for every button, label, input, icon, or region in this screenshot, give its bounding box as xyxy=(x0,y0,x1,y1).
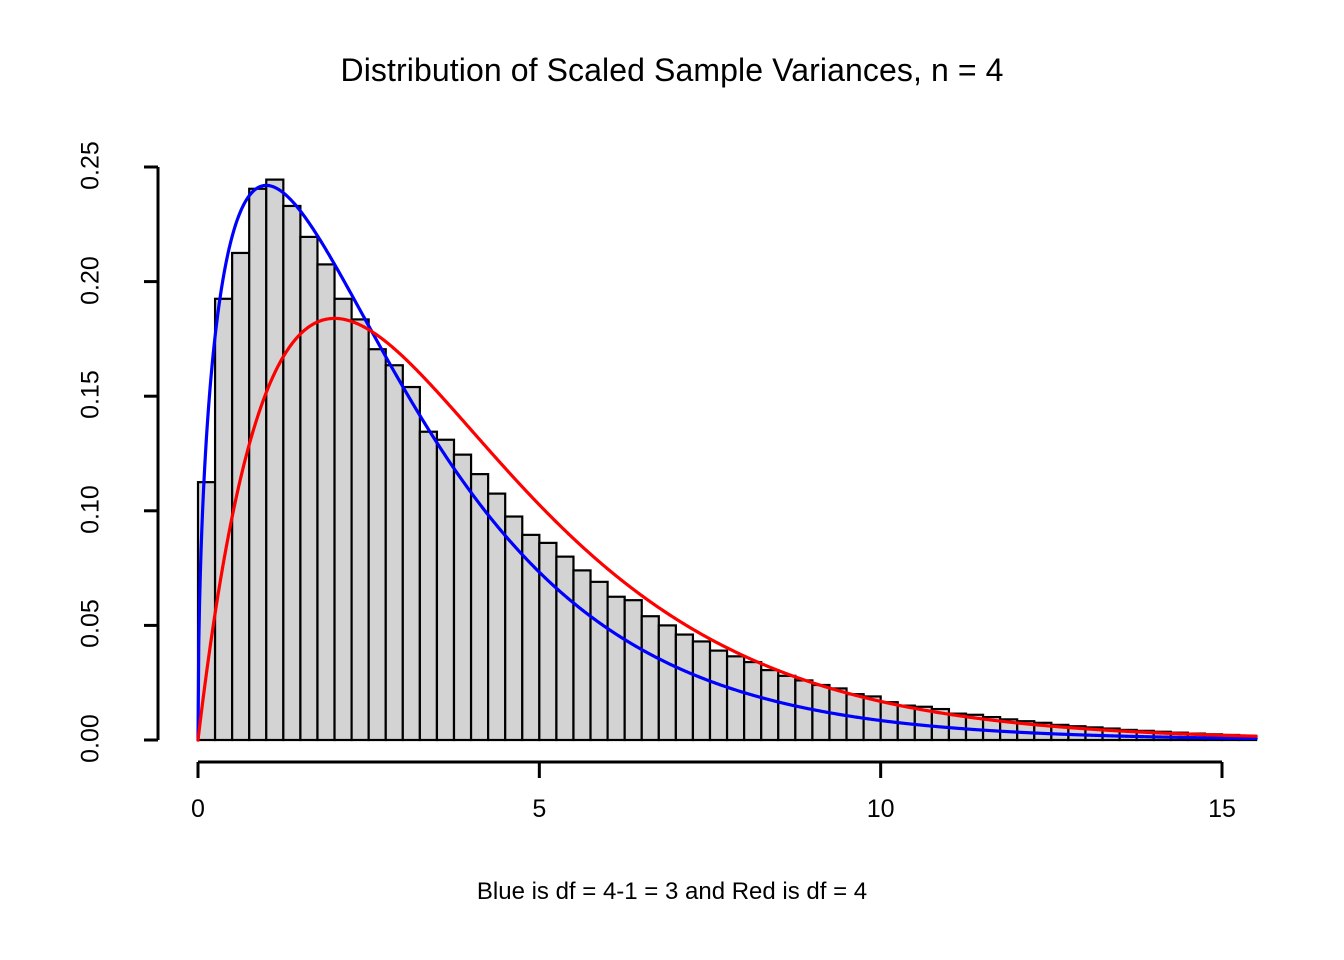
histogram-bar xyxy=(437,440,454,740)
histogram-bar xyxy=(249,189,266,740)
histogram-bar xyxy=(420,432,437,740)
histogram-bar xyxy=(642,616,659,740)
histogram-bar xyxy=(625,600,642,740)
histogram-bar xyxy=(676,635,693,740)
histogram-bar xyxy=(556,557,573,740)
histogram-bars xyxy=(198,180,1256,740)
histogram-bar xyxy=(761,670,778,740)
y-tick-label: 0.15 xyxy=(77,350,106,440)
x-tick-label: 0 xyxy=(191,795,205,824)
histogram-bar xyxy=(693,641,710,740)
histogram-bar xyxy=(232,253,249,740)
y-tick-label: 0.05 xyxy=(77,579,106,669)
histogram-bar xyxy=(335,299,352,740)
y-tick-label: 0.10 xyxy=(77,464,106,554)
histogram-bar xyxy=(403,387,420,740)
histogram-bar xyxy=(386,365,403,740)
y-tick-label: 0.20 xyxy=(77,235,106,325)
histogram-bar xyxy=(744,662,761,740)
histogram-bar xyxy=(608,597,625,740)
histogram-bar xyxy=(454,455,471,740)
y-tick-label: 0.00 xyxy=(77,694,106,784)
histogram-bar xyxy=(317,264,334,740)
chart-container: Distribution of Scaled Sample Variances,… xyxy=(0,0,1344,960)
histogram-bar xyxy=(352,319,369,740)
chart-caption: Blue is df = 4-1 = 3 and Red is df = 4 xyxy=(0,878,1344,906)
x-tick-label: 10 xyxy=(867,795,895,824)
histogram-bar xyxy=(710,651,727,740)
histogram-bar xyxy=(215,299,232,740)
histogram-bar xyxy=(266,180,283,740)
histogram-bar xyxy=(283,206,300,740)
histogram-bar xyxy=(659,625,676,740)
x-tick-label: 5 xyxy=(532,795,546,824)
y-tick-label: 0.25 xyxy=(77,121,106,211)
histogram-bar xyxy=(778,676,795,740)
histogram-bar xyxy=(727,656,744,740)
histogram-bar xyxy=(573,570,590,740)
histogram-bar xyxy=(300,237,317,740)
histogram-bar xyxy=(369,349,386,740)
histogram-bar xyxy=(591,582,608,740)
x-tick-label: 15 xyxy=(1208,795,1236,824)
